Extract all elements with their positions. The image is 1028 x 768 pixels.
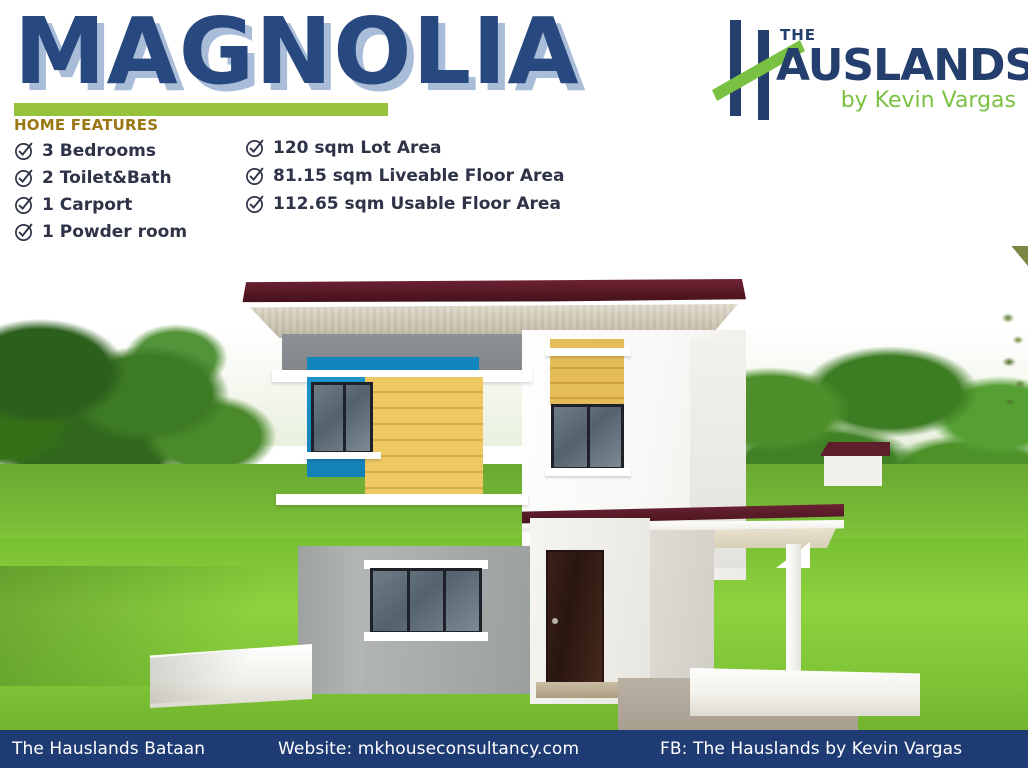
check-circle-icon xyxy=(245,194,265,214)
check-circle-icon xyxy=(245,138,265,158)
feature-label: 112.65 sqm Usable Floor Area xyxy=(273,194,561,214)
feature-item: 112.65 sqm Usable Floor Area xyxy=(245,192,564,215)
window-head-trim xyxy=(545,348,631,356)
feature-label: 3 Bedrooms xyxy=(42,141,156,161)
feature-label: 2 Toilet&Bath xyxy=(42,168,172,188)
check-circle-icon xyxy=(245,166,265,186)
feature-item: 3 Bedrooms xyxy=(14,140,187,162)
door-knob-icon xyxy=(552,618,558,624)
title-underline-bar xyxy=(14,103,388,116)
footer-website[interactable]: Website: mkhouseconsultancy.com xyxy=(278,739,579,759)
check-circle-icon xyxy=(14,168,34,188)
window-mullion xyxy=(587,407,590,467)
door-step xyxy=(536,682,618,698)
window-sill xyxy=(545,468,631,476)
window-ground-floor xyxy=(370,568,482,634)
house-photo xyxy=(0,246,1028,738)
footer-bar: The Hauslands Bataan Website: mkhousecon… xyxy=(0,730,1028,768)
edge-foliage-remnant xyxy=(1000,304,1028,414)
feature-label: 1 Carport xyxy=(42,195,132,215)
feature-item: 2 Toilet&Bath xyxy=(14,167,187,189)
ground-window-sill xyxy=(364,632,488,641)
logo-brand-text: AUSLANDS xyxy=(776,40,1028,91)
page-title: MAGNOLIA xyxy=(14,4,580,100)
features-right-column: 120 sqm Lot Area 81.15 sqm Liveable Floo… xyxy=(245,136,564,220)
window-mullion xyxy=(343,385,346,451)
main-roof xyxy=(242,279,746,305)
window-second-floor-left xyxy=(311,382,373,454)
poster-canvas: MAGNOLIA HOME FEATURES THE AUSLANDS by K… xyxy=(0,0,1028,768)
window-second-floor-right xyxy=(551,404,624,470)
check-circle-icon xyxy=(14,195,34,215)
window-mullion xyxy=(407,571,410,631)
feature-item: 120 sqm Lot Area xyxy=(245,136,564,159)
front-door[interactable] xyxy=(546,550,604,684)
home-features-label: HOME FEATURES xyxy=(14,116,158,134)
blue-accent-panel-upper xyxy=(307,357,479,371)
features-left-column: 3 Bedrooms 2 Toilet&Bath 1 Carport 1 Pow… xyxy=(14,140,187,248)
second-floor-lower-ledge xyxy=(276,494,528,505)
footer-facebook[interactable]: FB: The Hauslands by Kevin Vargas xyxy=(660,739,962,759)
feature-item: 81.15 sqm Liveable Floor Area xyxy=(245,164,564,187)
yellow-siding-panel xyxy=(365,377,483,498)
feature-label: 81.15 sqm Liveable Floor Area xyxy=(273,166,564,186)
check-circle-icon xyxy=(14,222,34,242)
page-title-block: MAGNOLIA xyxy=(14,4,580,100)
logo-tagline-text: by Kevin Vargas xyxy=(841,88,1016,113)
window-sill xyxy=(305,452,381,459)
window-mullion xyxy=(443,571,446,631)
hauslands-logo[interactable]: THE AUSLANDS by Kevin Vargas xyxy=(706,16,1018,120)
feature-label: 120 sqm Lot Area xyxy=(273,138,441,158)
feature-item: 1 Powder room xyxy=(14,221,187,243)
check-circle-icon xyxy=(14,141,34,161)
footer-location: The Hauslands Bataan xyxy=(12,739,205,759)
feature-item: 1 Carport xyxy=(14,194,187,216)
feature-label: 1 Powder room xyxy=(42,222,187,242)
